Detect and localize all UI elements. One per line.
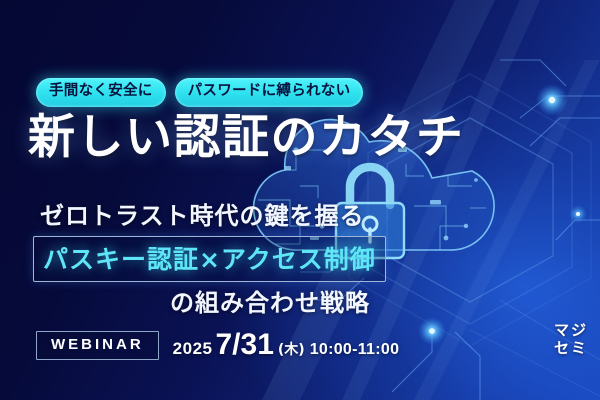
event-date-time: 2025 7/31 (木) 10:00-11:00 bbox=[173, 330, 400, 360]
majisemi-logo: マ ジ セ ミ bbox=[554, 322, 586, 357]
logo-char-3: セ bbox=[554, 340, 569, 358]
main-title: 新しい認証のカタチ bbox=[28, 112, 465, 165]
logo-char-1: マ bbox=[554, 322, 569, 340]
badge-item-1: パスワードに縛られない bbox=[175, 78, 364, 107]
subtitle-line-1: ゼロトラスト時代の鍵を握る bbox=[40, 196, 365, 231]
event-month-day: 7/31 bbox=[216, 330, 274, 360]
subtitle-line-2: の組み合わせ戦略 bbox=[170, 283, 370, 318]
logo-char-4: ミ bbox=[571, 340, 586, 358]
webinar-banner: 手間なく安全に パスワードに縛られない 新しい認証のカタチ ゼロトラスト時代の鍵… bbox=[0, 0, 600, 400]
webinar-label-box: WEBINAR bbox=[36, 331, 159, 360]
highlight-box: パスキー認証×アクセス制御 bbox=[33, 236, 386, 282]
footer-bar: WEBINAR 2025 7/31 (木) 10:00-11:00 bbox=[36, 330, 399, 360]
badge-group: 手間なく安全に パスワードに縛られない bbox=[36, 78, 363, 107]
highlight-text: パスキー認証×アクセス制御 bbox=[43, 245, 376, 274]
badge-item-0: 手間なく安全に bbox=[36, 78, 166, 107]
event-year: 2025 bbox=[173, 339, 213, 359]
event-time-range: 10:00-11:00 bbox=[310, 341, 400, 359]
webinar-label: WEBINAR bbox=[51, 336, 144, 353]
logo-char-2: ジ bbox=[571, 322, 586, 340]
event-day-of-week: (木) bbox=[278, 339, 305, 359]
